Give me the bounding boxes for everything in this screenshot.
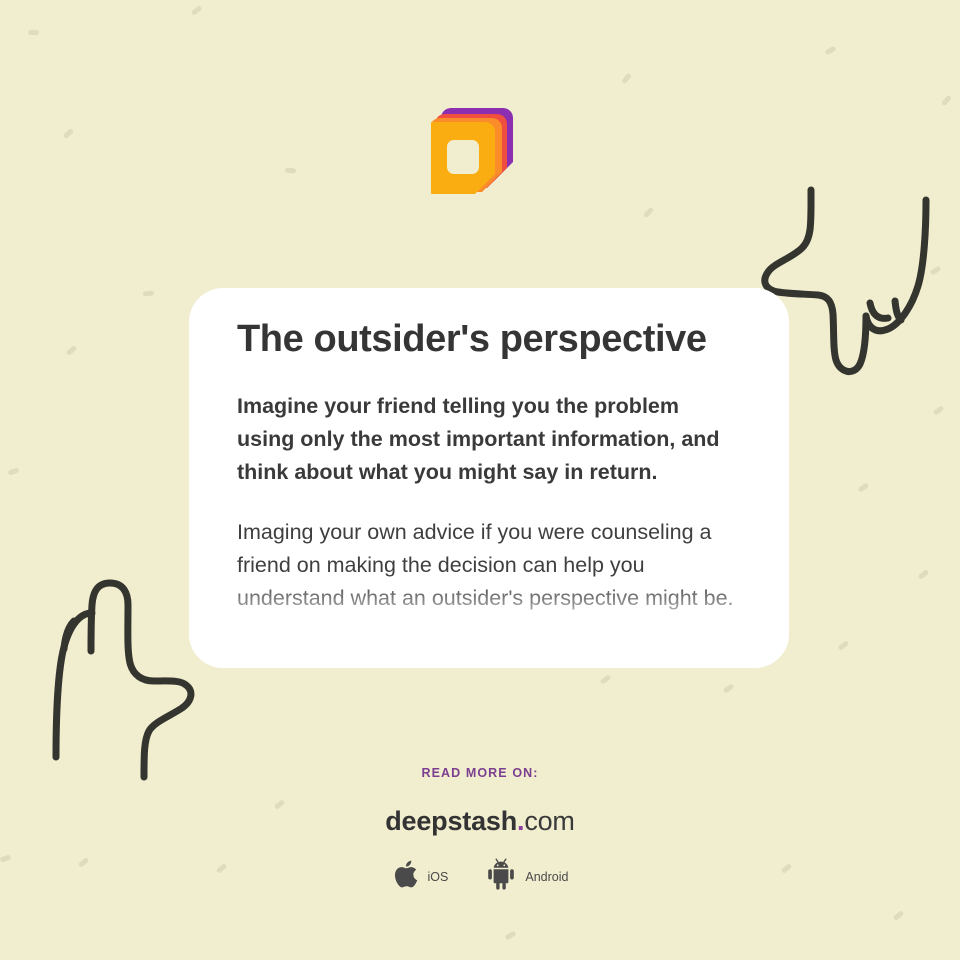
speck xyxy=(285,168,296,174)
speck xyxy=(191,5,203,16)
brand-wordmark[interactable]: deepstash.com xyxy=(0,806,960,837)
speck xyxy=(143,290,154,296)
read-more-label: READ MORE ON: xyxy=(0,766,960,780)
speck xyxy=(643,207,654,218)
speck xyxy=(63,128,74,139)
speck xyxy=(858,482,870,492)
store-badges: iOS Android xyxy=(0,858,960,895)
ios-store-badge[interactable]: iOS xyxy=(392,858,449,895)
brand-tld: com xyxy=(524,806,574,836)
android-icon xyxy=(486,858,516,895)
speck xyxy=(933,405,945,416)
deepstash-logo xyxy=(431,106,515,196)
speck xyxy=(28,30,39,35)
poster-canvas: The outsider's perspective Imagine your … xyxy=(0,0,960,960)
card-content: The outsider's perspective Imagine your … xyxy=(189,288,789,616)
android-label: Android xyxy=(525,870,568,884)
speck xyxy=(918,569,930,580)
card-lead-paragraph: Imagine your friend telling you the prob… xyxy=(237,390,741,490)
footer: READ MORE ON: deepstash.com iOS xyxy=(0,766,960,895)
apple-icon xyxy=(392,858,419,895)
speck xyxy=(893,910,905,921)
ios-label: iOS xyxy=(428,870,449,884)
card-body-paragraph: Imaging your own advice if you were coun… xyxy=(237,516,741,616)
brand-name: deepstash xyxy=(385,806,517,836)
speck xyxy=(941,95,952,107)
speck xyxy=(838,640,850,651)
card-title: The outsider's perspective xyxy=(237,318,741,362)
speck xyxy=(66,345,78,356)
speck xyxy=(504,931,516,941)
pointing-hand-left xyxy=(18,555,208,790)
speck xyxy=(7,467,19,475)
quote-card: The outsider's perspective Imagine your … xyxy=(189,288,789,668)
android-store-badge[interactable]: Android xyxy=(486,858,568,895)
speck xyxy=(723,683,735,694)
speck xyxy=(824,46,836,56)
speck xyxy=(621,73,632,85)
speck xyxy=(600,674,612,685)
